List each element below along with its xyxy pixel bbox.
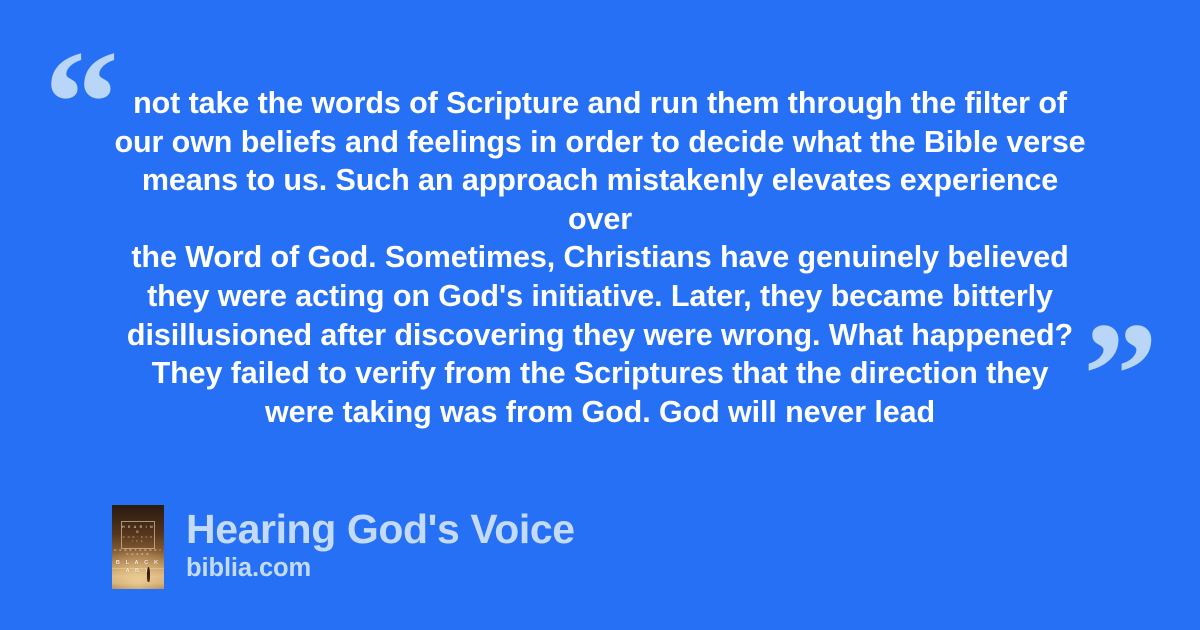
book-cover-author-first: H E N R Y A N D R I C H A R D (114, 549, 161, 556)
quote-card: “ not take the words of Scripture and ru… (0, 0, 1200, 430)
quote-open-icon: “ (44, 28, 117, 178)
book-cover-author: H E N R Y A N D R I C H A R D B L A C K … (112, 549, 164, 575)
source-site: biblia.com (186, 553, 575, 583)
source-title: Hearing God's Voice (186, 506, 575, 552)
book-cover-thumbnail: H E A R I N G G O D ' S V O I C E H E N … (112, 505, 164, 589)
book-cover-title-sub: G O D ' S V O I C E (122, 536, 154, 544)
book-cover-title-main: H E A R I N G (122, 525, 154, 535)
book-cover-author-last: B L A C K A B Y (112, 559, 164, 576)
attribution-text-group: Hearing God's Voice biblia.com (186, 505, 575, 583)
book-cover-title-frame: H E A R I N G G O D ' S V O I C E (121, 521, 155, 549)
quote-close-icon: ” (1083, 300, 1156, 450)
attribution: H E A R I N G G O D ' S V O I C E H E N … (112, 505, 575, 589)
quote-text: not take the words of Scripture and run … (108, 84, 1092, 431)
